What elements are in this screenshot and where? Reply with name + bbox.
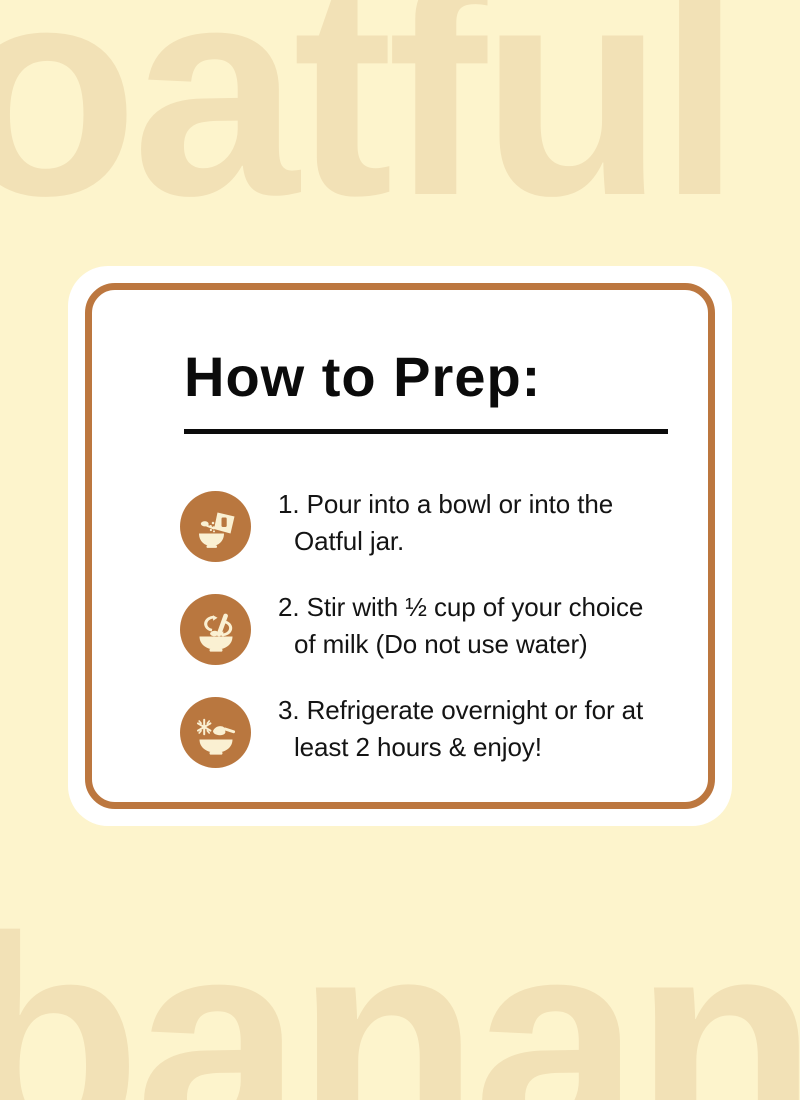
pour-packet-into-bowl-icon — [180, 491, 251, 562]
list-item-text: 3. Refrigerate overnight or for at least… — [278, 692, 668, 766]
instruction-card: How to Prep: — [68, 266, 732, 826]
title-divider — [184, 429, 668, 434]
background-watermark-top: oatful — [0, 0, 736, 240]
list-item-text: 2. Stir with ½ cup of your choice of mil… — [278, 589, 668, 663]
list-item: 3. Refrigerate overnight or for at least… — [180, 692, 668, 768]
steps-list: 1. Pour into a bowl or into the Oatful j… — [180, 486, 668, 768]
list-item: 2. Stir with ½ cup of your choice of mil… — [180, 589, 668, 665]
list-item: 1. Pour into a bowl or into the Oatful j… — [180, 486, 668, 562]
refrigerate-snowflake-bowl-icon — [180, 697, 251, 768]
page-title: How to Prep: — [184, 348, 668, 407]
stir-bowl-spoon-icon — [180, 594, 251, 665]
prep-instructions-poster: oatful banana How to Prep: — [0, 0, 800, 1100]
card-border-frame: How to Prep: — [85, 283, 715, 809]
heading-block: How to Prep: — [184, 348, 668, 434]
background-watermark-bottom: banana — [0, 892, 800, 1100]
list-item-text: 1. Pour into a bowl or into the Oatful j… — [278, 486, 668, 560]
